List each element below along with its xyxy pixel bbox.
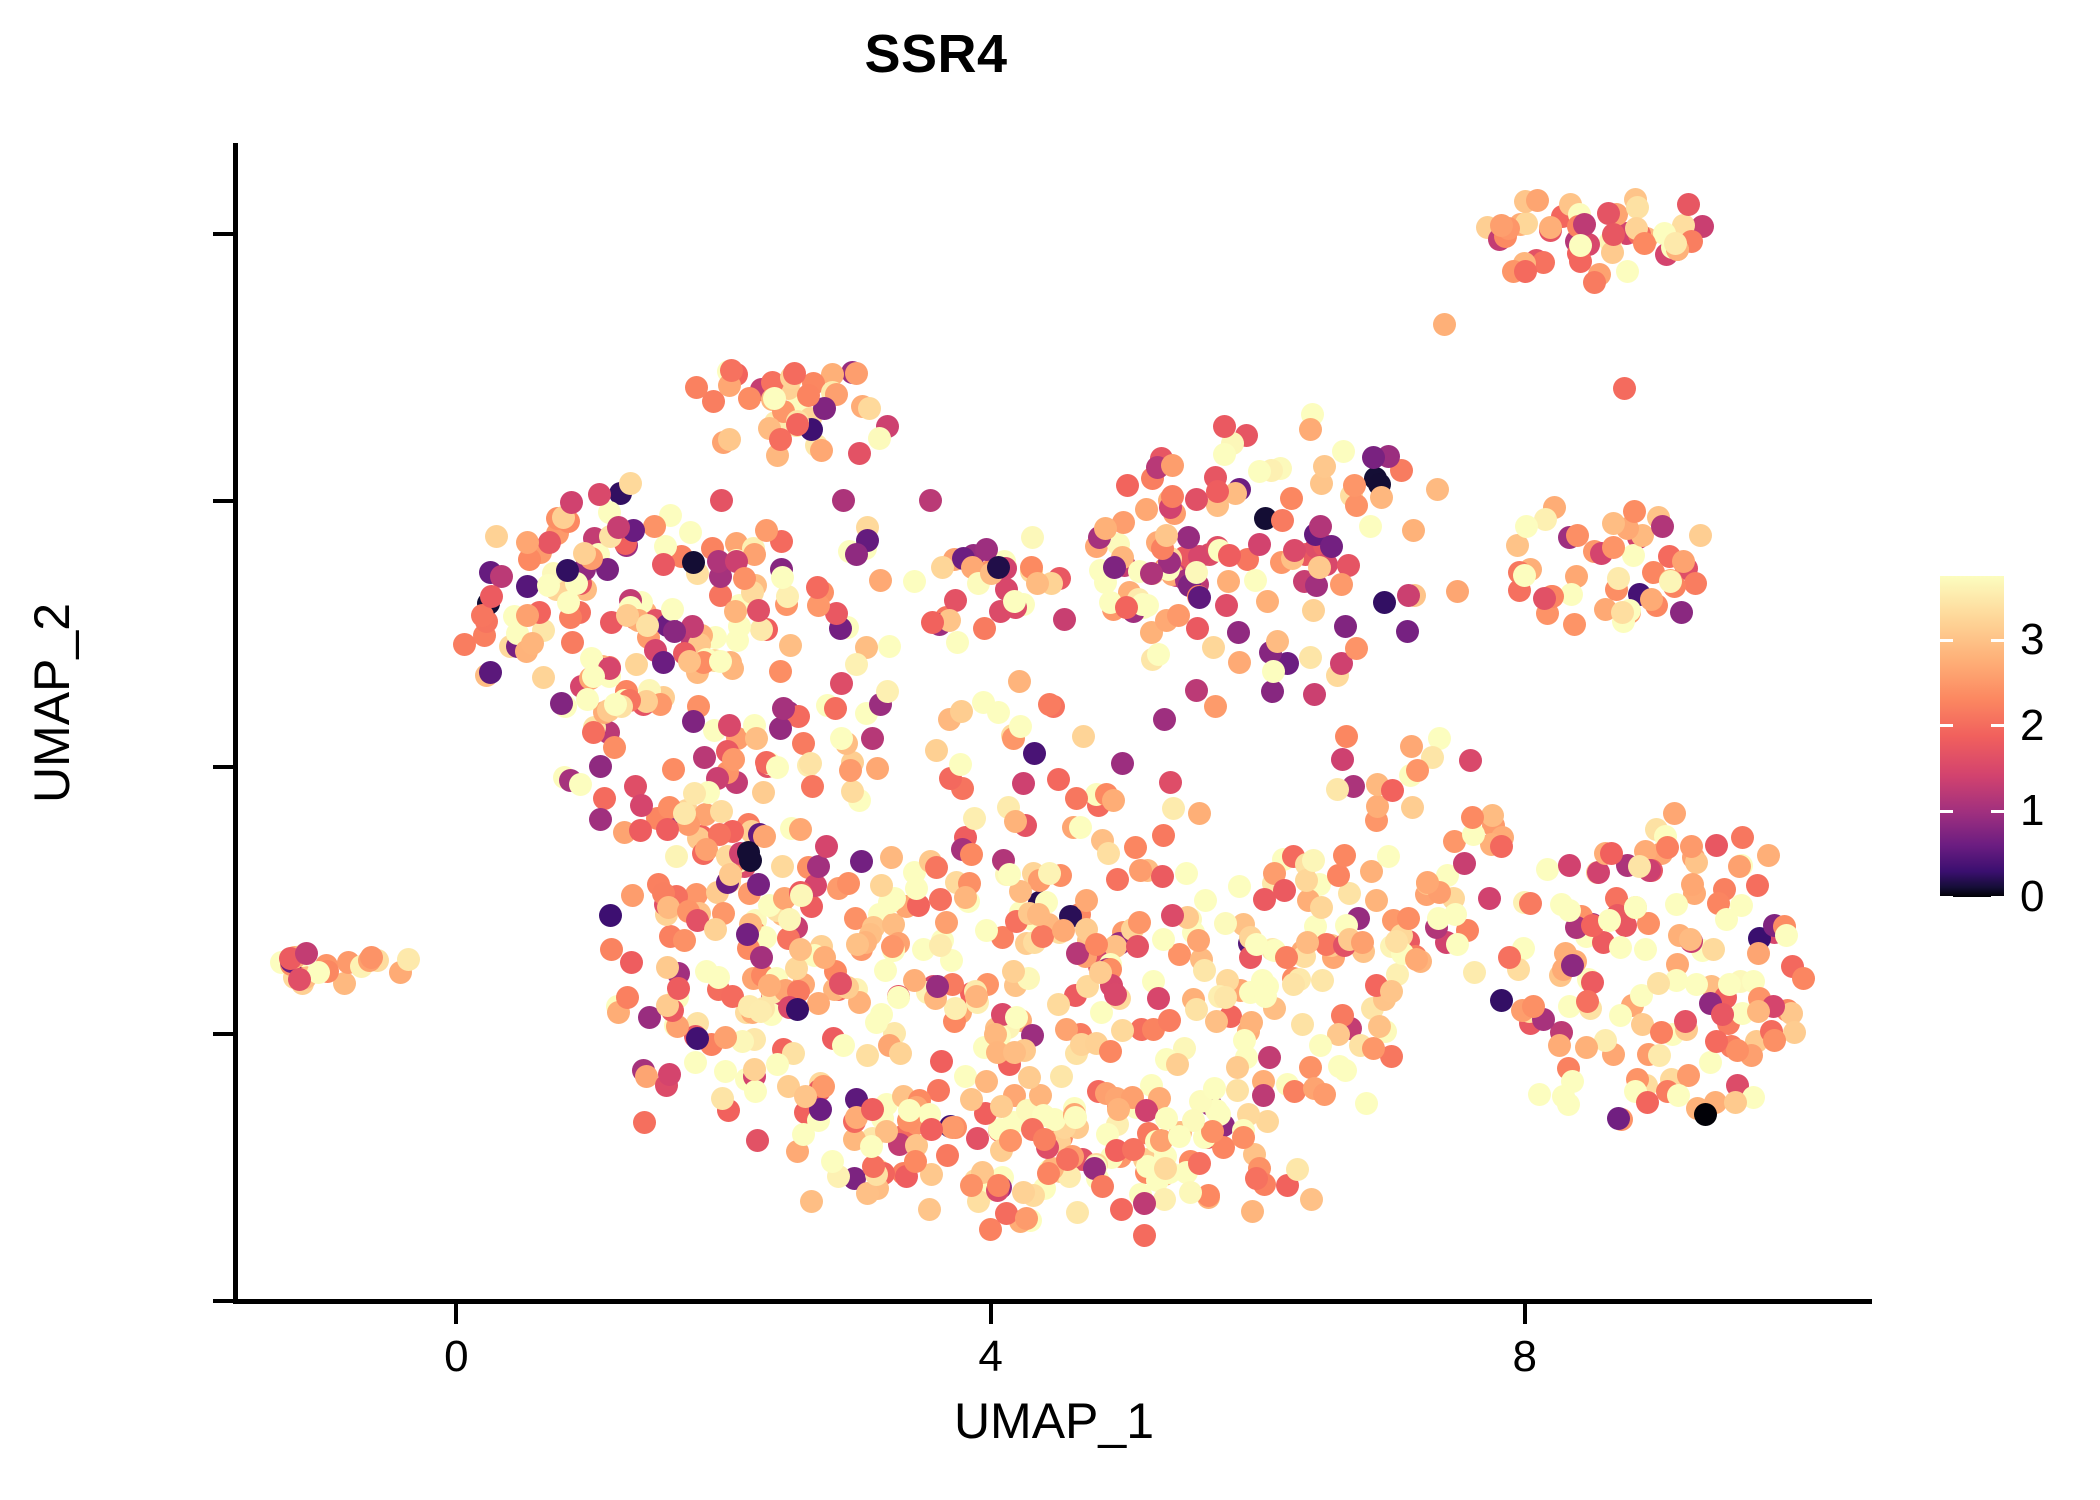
scatter-point	[1694, 1103, 1717, 1126]
x-tick-label: 0	[396, 1332, 516, 1382]
scatter-point	[695, 838, 718, 861]
scatter-point	[931, 556, 954, 579]
scatter-point	[1313, 455, 1336, 478]
scatter-point	[1731, 826, 1754, 849]
scatter-point	[746, 1129, 769, 1152]
scatter-point	[752, 781, 775, 804]
scatter-point	[799, 752, 822, 775]
scatter-point	[1623, 500, 1646, 523]
scatter-point	[1560, 583, 1583, 606]
scatter-point	[1215, 594, 1238, 617]
scatter-point	[1677, 193, 1700, 216]
scatter-point	[1111, 1019, 1134, 1042]
scatter-point	[679, 521, 702, 544]
scatter-point	[718, 428, 741, 451]
scatter-point	[479, 661, 502, 684]
scatter-point	[1203, 1077, 1226, 1100]
scatter-point	[1300, 1188, 1323, 1211]
scatter-point	[936, 1144, 959, 1167]
scatter-point	[1072, 725, 1095, 748]
scatter-point	[1326, 778, 1349, 801]
scatter-point	[1656, 836, 1679, 859]
scatter-point	[1282, 973, 1305, 996]
scatter-point	[949, 753, 972, 776]
scatter-point	[1271, 509, 1294, 532]
scatter-point	[1333, 844, 1356, 867]
scatter-point	[1401, 796, 1424, 819]
scatter-point	[960, 1088, 983, 1111]
x-axis-line	[233, 1299, 1872, 1304]
scatter-point	[806, 576, 829, 599]
scatter-point	[1331, 748, 1354, 771]
scatter-point	[537, 574, 560, 597]
scatter-point	[1583, 271, 1606, 294]
y-axis-line	[233, 143, 238, 1303]
scatter-point	[516, 604, 539, 627]
scatter-point	[589, 808, 612, 831]
scatter-point	[1133, 1224, 1156, 1247]
scatter-point	[707, 966, 730, 989]
scatter-point	[1193, 959, 1216, 982]
scatter-point	[1416, 871, 1439, 894]
scatter-point	[778, 908, 801, 931]
scatter-point	[1299, 1056, 1322, 1079]
scatter-point	[1069, 816, 1092, 839]
scatter-point	[1309, 1034, 1332, 1057]
scatter-point	[870, 874, 893, 897]
scatter-point	[1664, 232, 1687, 255]
scatter-point	[1569, 234, 1592, 257]
scatter-point	[1705, 834, 1728, 857]
scatter-point	[1291, 1013, 1314, 1036]
scatter-point	[745, 727, 768, 750]
scatter-point	[661, 598, 684, 621]
scatter-point	[1273, 879, 1296, 902]
color-legend-gradient-bar	[1940, 576, 2004, 897]
scatter-point	[779, 634, 802, 657]
scatter-point	[1320, 535, 1343, 558]
scatter-point	[1602, 512, 1625, 535]
scatter-point	[1400, 735, 1423, 758]
scatter-point	[858, 397, 881, 420]
scatter-point	[861, 727, 884, 750]
scatter-point	[925, 739, 948, 762]
scatter-point	[1490, 989, 1513, 1012]
scatter-point	[1634, 938, 1657, 961]
scatter-point	[954, 886, 977, 909]
scatter-point	[1047, 993, 1070, 1016]
scatter-point	[621, 884, 644, 907]
color-legend[interactable]: 3210	[1940, 576, 2004, 897]
scatter-point	[1213, 415, 1236, 438]
scatter-point	[832, 1034, 855, 1057]
scatter-point	[1665, 893, 1688, 916]
scatter-point	[684, 1051, 707, 1074]
x-tick-mark	[989, 1304, 993, 1324]
scatter-point	[1103, 556, 1126, 579]
scatter-point	[1651, 515, 1674, 538]
x-tick-mark	[1523, 1304, 1527, 1324]
scatter-point	[743, 1058, 766, 1081]
scatter-point	[800, 1190, 823, 1213]
scatter-point	[1365, 889, 1388, 912]
scatter-point	[1021, 526, 1044, 549]
scatter-point	[1647, 972, 1670, 995]
scatter-point	[1783, 1021, 1806, 1044]
scatter-point	[1089, 961, 1112, 984]
scatter-point	[1385, 930, 1408, 953]
scatter-point	[1705, 1030, 1728, 1053]
scatter-point	[662, 758, 685, 781]
scatter-point	[1185, 679, 1208, 702]
scatter-point	[1573, 213, 1596, 236]
scatter-point	[926, 975, 949, 998]
page-title: SSR4	[0, 22, 1872, 86]
scatter-point	[625, 653, 648, 676]
scatter-point	[1252, 1084, 1275, 1107]
x-axis-title: UMAP_1	[236, 1392, 1872, 1450]
scatter-point	[848, 442, 871, 465]
scatter-point	[1616, 260, 1639, 283]
scatter-point	[1226, 1079, 1249, 1102]
scatter-point	[1026, 572, 1049, 595]
scatter-point	[658, 1063, 681, 1086]
scatter-point	[1726, 1039, 1749, 1062]
scatter-point	[856, 1044, 879, 1067]
scatter-point	[1308, 556, 1331, 579]
scatter-point	[1481, 804, 1504, 827]
scatter-point	[1461, 806, 1484, 829]
scatter-point	[1166, 1053, 1189, 1076]
scatter-point	[599, 904, 622, 927]
scatter-point	[1526, 189, 1549, 212]
scatter-point	[1159, 771, 1182, 794]
scatter-point	[801, 775, 824, 798]
scatter-point	[824, 697, 847, 720]
scatter-point	[1602, 536, 1625, 559]
scatter-point	[861, 1098, 884, 1121]
scatter-point	[810, 439, 833, 462]
scatter-point	[807, 855, 830, 878]
scatter-point	[1426, 478, 1449, 501]
scatter-point	[1066, 1201, 1089, 1224]
scatter-point	[719, 863, 742, 886]
scatter-point	[990, 1095, 1013, 1118]
scatter-point	[1681, 873, 1704, 896]
scatter-point	[839, 759, 862, 782]
scatter-point	[769, 660, 792, 683]
scatter-point	[1185, 488, 1208, 511]
scatter-point	[1155, 1107, 1178, 1130]
scatter-point	[771, 566, 794, 589]
scatter-point	[656, 818, 679, 841]
scatter-point	[733, 567, 756, 590]
scatter-point	[846, 933, 869, 956]
scatter-point	[704, 918, 727, 941]
scatter-point	[1602, 223, 1625, 246]
scatter-point	[1711, 1003, 1734, 1026]
color-legend-tick-label: 3	[2020, 618, 2044, 662]
scatter-point	[1280, 487, 1303, 510]
scatter-point	[1258, 1046, 1281, 1069]
scatter-point	[821, 1150, 844, 1173]
color-legend-tick-mark	[1940, 896, 1953, 899]
scatter-point	[1111, 752, 1134, 775]
scatter-point	[946, 631, 969, 654]
scatter-point	[710, 489, 733, 512]
scatter-point	[1186, 617, 1209, 640]
scatter-point	[1153, 708, 1176, 731]
scatter-point	[1214, 912, 1237, 935]
scatter-point	[560, 491, 583, 514]
scatter-point	[1147, 987, 1170, 1010]
scatter-point	[1600, 842, 1623, 865]
scatter-point	[629, 819, 652, 842]
scatter-point	[1684, 572, 1707, 595]
scatter-point	[550, 692, 573, 715]
scatter-point	[1611, 601, 1634, 624]
scatter-point	[1533, 587, 1556, 610]
scatter-point	[966, 1127, 989, 1150]
scatter-point	[845, 653, 868, 676]
scatter-point	[1097, 842, 1120, 865]
scatter-point	[954, 1065, 977, 1088]
scatter-point	[1126, 935, 1149, 958]
scatter-point	[1161, 454, 1184, 477]
scatter-point	[630, 794, 653, 817]
scatter-point	[1607, 1107, 1630, 1130]
scatter-point	[792, 1123, 815, 1146]
scatter-point	[620, 951, 643, 974]
scatter-point	[1245, 1167, 1268, 1190]
scatter-point	[744, 1080, 767, 1103]
scatter-point	[1228, 651, 1251, 674]
scatter-point	[1490, 214, 1513, 237]
scatter-point	[1228, 875, 1251, 898]
scatter-point	[920, 1118, 943, 1141]
scatter-point	[1561, 954, 1584, 977]
scatter-point	[1244, 569, 1267, 592]
scatter-point	[652, 553, 675, 576]
scatter-point	[1685, 973, 1708, 996]
scatter-point	[1406, 759, 1429, 782]
scatter-point	[889, 1042, 912, 1065]
scatter-point	[485, 525, 508, 548]
scatter-point	[1335, 725, 1358, 748]
scatter-point	[1667, 1084, 1690, 1107]
scatter-point	[876, 680, 899, 703]
scatter-point	[786, 998, 809, 1021]
scatter-point	[1241, 1200, 1264, 1223]
scatter-point	[1763, 1029, 1786, 1052]
scatter-point	[1299, 646, 1322, 669]
scatter-point	[815, 835, 838, 858]
scatter-point	[868, 427, 891, 450]
scatter-point	[1724, 1091, 1747, 1114]
scatter-point	[1106, 868, 1129, 891]
scatter-point	[830, 672, 853, 695]
scatter-point	[1757, 844, 1780, 867]
scatter-point	[987, 701, 1010, 724]
scatter-point	[763, 387, 786, 410]
y-tick-mark	[213, 232, 233, 236]
scatter-point	[887, 986, 910, 1009]
scatter-point	[1005, 1006, 1028, 1029]
scatter-point	[1332, 440, 1355, 463]
scatter-point	[1478, 887, 1501, 910]
scatter-point	[930, 1050, 953, 1073]
scatter-point	[1715, 908, 1738, 931]
scatter-point	[1334, 1059, 1357, 1082]
scatter-point	[1405, 948, 1428, 971]
scatter-point	[832, 489, 855, 512]
scatter-point	[538, 531, 561, 554]
scatter-point	[532, 666, 555, 689]
scatter-point	[1266, 630, 1289, 653]
scatter-point	[1232, 1126, 1255, 1149]
scatter-point	[1327, 864, 1350, 887]
scatter-point	[561, 631, 584, 654]
scatter-point	[1303, 683, 1326, 706]
scatter-point	[783, 362, 806, 385]
scatter-point	[776, 585, 799, 608]
scatter-point	[1012, 772, 1035, 795]
scatter-point	[1633, 232, 1656, 255]
y-tick-mark	[213, 499, 233, 503]
scatter-point	[1515, 515, 1538, 538]
scatter-point	[573, 542, 596, 565]
scatter-point	[1064, 1106, 1087, 1129]
scatter-point	[935, 911, 958, 934]
scatter-point	[663, 620, 686, 643]
scatter-point	[1433, 313, 1456, 336]
scatter-point	[1397, 907, 1420, 930]
scatter-point	[1689, 524, 1712, 547]
scatter-point	[1167, 604, 1190, 627]
color-legend-tick-mark	[1991, 639, 2004, 642]
scatter-point	[556, 559, 579, 582]
scatter-point	[1133, 1192, 1156, 1215]
scatter-point	[1003, 1041, 1026, 1064]
scatter-point	[1490, 835, 1513, 858]
scatter-point	[1362, 1037, 1385, 1060]
scatter-point	[950, 700, 973, 723]
scatter-point	[1609, 1004, 1632, 1027]
scatter-point	[1009, 715, 1032, 738]
scatter-point	[682, 551, 705, 574]
scatter-point	[714, 1060, 737, 1083]
scatter-point	[1158, 1009, 1181, 1032]
scatter-point	[1607, 567, 1630, 590]
scatter-point	[797, 384, 820, 407]
scatter-point	[1311, 969, 1334, 992]
scatter-point	[1624, 896, 1647, 919]
scatter-point	[1597, 202, 1620, 225]
scatter-point	[1226, 1056, 1249, 1079]
scatter-point	[1548, 1034, 1571, 1057]
scatter-point	[845, 543, 868, 566]
scatter-point	[878, 635, 901, 658]
scatter-point	[652, 651, 675, 674]
scatter-point	[1296, 931, 1319, 954]
scatter-point	[1248, 533, 1271, 556]
scatter-point	[582, 721, 605, 744]
scatter-point	[1003, 590, 1026, 613]
scatter-point	[722, 748, 745, 771]
scatter-point	[1718, 973, 1741, 996]
scatter-point	[975, 919, 998, 942]
scatter-point	[1747, 942, 1770, 965]
scatter-point	[1129, 859, 1152, 882]
scatter-point	[1345, 637, 1368, 660]
scatter-point	[1377, 845, 1400, 868]
scatter-point	[1147, 643, 1170, 666]
scatter-point	[736, 923, 759, 946]
scatter-point	[965, 985, 988, 1008]
scatter-point	[1018, 1066, 1041, 1089]
scatter-point	[636, 614, 659, 637]
scatter-point	[593, 787, 616, 810]
scatter-point	[569, 773, 592, 796]
scatter-point	[1075, 889, 1098, 912]
scatter-point	[929, 934, 952, 957]
color-legend-tick-mark	[1991, 896, 2004, 899]
scatter-point	[1381, 779, 1404, 802]
scatter-point	[1295, 869, 1318, 892]
scatter-point	[1539, 216, 1562, 239]
scatter-point	[521, 632, 544, 655]
scatter-point	[588, 483, 611, 506]
scatter-point	[1227, 621, 1250, 644]
scatter-point	[769, 717, 792, 740]
scatter-point	[1459, 749, 1482, 772]
scatter-point	[1027, 903, 1050, 926]
scatter-point	[673, 929, 696, 952]
scatter-point	[1254, 985, 1277, 1008]
scatter-point	[576, 688, 599, 711]
scatter-point	[766, 756, 789, 779]
scatter-point	[1033, 1128, 1056, 1151]
scatter-point	[1091, 1175, 1114, 1198]
y-tick-mark	[213, 1032, 233, 1036]
scatter-point	[1396, 620, 1419, 643]
scatter-point	[397, 948, 420, 971]
color-legend-tick-mark	[1991, 810, 2004, 813]
scatter-point	[693, 746, 716, 769]
scatter-point	[1636, 1091, 1659, 1114]
scatter-point	[1047, 768, 1070, 791]
scatter-point	[1261, 680, 1284, 703]
scatter-point	[963, 807, 986, 830]
scatter-point	[874, 959, 897, 982]
scatter-point	[1116, 474, 1139, 497]
scatter-point	[1050, 1065, 1073, 1088]
scatter-point	[665, 845, 688, 868]
scatter-point	[1536, 858, 1559, 881]
scatter-point	[1561, 1070, 1584, 1093]
scatter-point	[1023, 742, 1046, 765]
scatter-point	[1038, 693, 1061, 716]
scatter-point	[869, 569, 892, 592]
scatter-point	[1519, 892, 1542, 915]
scatter-point	[1359, 515, 1382, 538]
color-legend-tick-mark	[1940, 639, 1953, 642]
scatter-point	[1187, 929, 1210, 952]
scatter-point	[921, 611, 944, 634]
scatter-point	[1065, 787, 1088, 810]
scatter-point	[1355, 1092, 1378, 1115]
y-axis-title: UMAP_2	[23, 123, 81, 1283]
